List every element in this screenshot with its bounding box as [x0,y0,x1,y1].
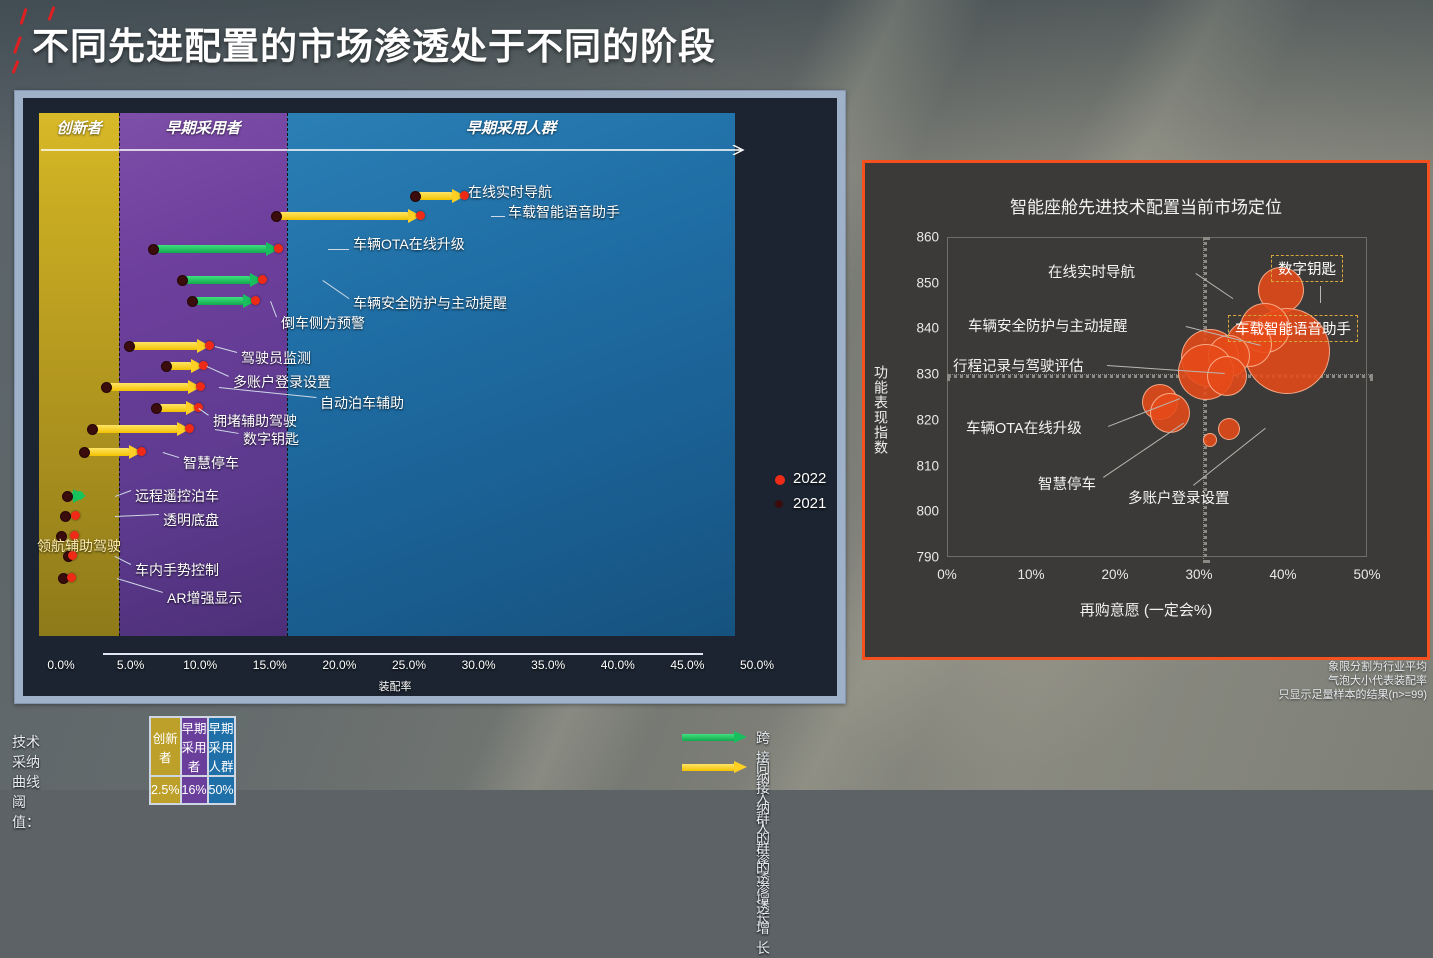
x-axis-ticks: 0.0%5.0%10.0%15.0%20.0%25.0%30.0%35.0%40… [39,658,751,680]
data-point-2022-3 [258,275,267,284]
growth-arrow-2 [157,243,278,255]
tech-label-3: 车辆安全防护与主动提醒 [353,293,507,313]
tech-label-2: 车辆OTA在线升级 [353,234,465,254]
footnote-line-3: 只显示足量样本的结果(n>=99) [1278,688,1427,702]
right-leader-1 [1320,286,1321,303]
bubble-label-5: 车辆OTA在线升级 [966,417,1082,438]
data-point-2021-8 [151,403,162,414]
table-row-values: 2.5% 16% 50% [150,776,235,804]
right-y-axis-label: 功能表现指数 [871,365,891,455]
x-tick-3: 15.0% [253,658,287,672]
data-point-2021-11 [62,491,73,502]
bubble-label-4: 行程记录与驾驶评估 [953,355,1084,376]
tech-label-0: 在线实时导航 [468,182,552,202]
right-x-tick-2: 20% [1101,567,1128,582]
tech-label-7: 自动泊车辅助 [320,393,404,413]
data-point-2021-0 [410,191,421,202]
bubble-label-2: 车辆安全防护与主动提醒 [968,315,1128,336]
green-arrow-icon [682,731,748,743]
right-y-tick-0: 790 [895,550,939,565]
bubble-11 [1203,433,1217,447]
band-innovators [39,113,119,636]
bubble-9 [1150,393,1190,433]
footnote-line-2: 气泡大小代表装配率 [1278,674,1427,688]
right-y-tick-2: 810 [895,458,939,473]
data-point-2021-9 [87,424,98,435]
right-x-tick-1: 10% [1017,567,1044,582]
growth-arrow-6 [170,360,204,372]
right-x-tick-4: 40% [1269,567,1296,582]
right-x-tick-3: 30% [1185,567,1212,582]
tech-label-9: 数字钥匙 [243,429,299,449]
bubble-label-1: 数字钥匙 [1271,255,1343,282]
bubble-label-7: 多账户登录设置 [1128,487,1230,508]
x-tick-5: 25.0% [392,658,426,672]
tech-label-4: 倒车侧方预警 [281,313,365,333]
tech-label-14: 车内手势控制 [135,560,219,580]
footnote-line-1: 象限分割为行业平均 [1278,660,1427,674]
decoration-tick-1 [19,8,27,25]
growth-arrow-1 [280,210,421,222]
data-point-2021-7 [101,382,112,393]
decoration-tick-3 [13,36,22,54]
threshold-value-0: 2.5% [150,776,181,804]
right-y-tick-1: 800 [895,504,939,519]
band-header-early-majority: 早期采用人群 [287,113,735,145]
title-bar: 不同先进配置的市场渗透处于不同的阶段 [0,0,1433,84]
x-tick-4: 20.0% [322,658,356,672]
band-header-early-adopters: 早期采用者 [119,113,287,145]
footnote: 象限分割为行业平均 气泡大小代表装配率 只显示足量样本的结果(n>=99) [1278,660,1427,702]
data-point-2021-10 [79,447,90,458]
growth-arrow-10 [88,446,141,458]
x-tick-7: 35.0% [531,658,565,672]
tech-label-10: 智慧停车 [183,453,239,473]
right-x-tick-5: 50% [1353,567,1380,582]
tech-label-11: 远程遥控泊车 [135,486,219,506]
threshold-header-0: 创新者 [150,717,181,776]
right-y-tick-4: 830 [895,367,939,382]
tech-label-8: 拥堵辅助驾驶 [213,411,297,431]
bubble-label-3: 车载智能语音助手 [1228,315,1358,342]
x-tick-8: 40.0% [601,658,635,672]
page-title: 不同先进配置的市场渗透处于不同的阶段 [32,16,716,70]
leader-line-2 [328,249,349,250]
growth-arrow-0 [419,190,464,202]
yellow-arrow-icon [682,761,748,773]
legend-label-2022: 2022 [793,470,826,487]
data-point-2022-4 [251,296,260,305]
adoption-axis-arrow [41,145,751,155]
table-row-headers: 创新者 早期采用者 早期采用人群 [150,717,235,776]
right-x-axis-label: 再购意愿 (一定会%) [865,599,1427,620]
tech-label-15: AR增强显示 [167,588,242,608]
threshold-table: 创新者 早期采用者 早期采用人群 2.5% 16% 50% [149,716,236,805]
leader-line-1 [491,216,505,217]
right-y-tick-3: 820 [895,412,939,427]
threshold-header-1: 早期采用者 [181,717,208,776]
bubble-label-6: 智慧停车 [1038,473,1096,494]
right-y-tick-6: 850 [895,275,939,290]
left-chart-panel: 创新者 早期采用者 早期采用人群 在线实时导航车载智能语音助手车辆OTA在线升级… [14,90,846,704]
right-chart-title: 智能座舱先进技术配置当前市场定位 [865,193,1427,218]
bubble-label-0: 在线实时导航 [1048,261,1135,282]
adoption-curve-plot: 创新者 早期采用者 早期采用人群 在线实时导航车载智能语音助手车辆OTA在线升级… [23,98,837,696]
growth-arrow-4 [196,295,255,307]
data-point-2022-5 [205,341,214,350]
legend-dot-2021 [775,500,783,508]
threshold-value-2: 50% [208,776,235,804]
x-tick-10: 50.0% [740,658,774,672]
data-point-2022-15 [67,573,76,582]
bubble-10 [1218,418,1240,440]
band-header-innovators: 创新者 [39,113,119,145]
tech-label-13: 领航辅助驾驶 [37,536,121,556]
growth-arrow-9 [96,423,189,435]
growth-arrow-7 [110,381,201,393]
legend-dot-2022 [775,475,785,485]
tech-label-1: 车载智能语音助手 [508,202,620,222]
x-tick-6: 30.0% [462,658,496,672]
x-tick-9: 45.0% [670,658,704,672]
threshold-value-1: 16% [181,776,208,804]
data-point-2022-10 [137,447,146,456]
threshold-header-2: 早期采用人群 [208,717,235,776]
right-chart-panel: 智能座舱先进技术配置当前市场定位 功能表现指数 再购意愿 (一定会%) 7908… [862,160,1430,660]
x-axis-line [103,653,703,655]
x-tick-2: 10.0% [183,658,217,672]
data-point-2021-1 [271,211,282,222]
threshold-label: 技术采纳曲线阈值： [12,732,40,832]
legend-label-2021: 2021 [793,495,826,512]
right-y-tick-7: 860 [895,230,939,245]
x-tick-1: 5.0% [117,658,144,672]
tech-label-5: 驾驶员监测 [241,348,311,368]
growth-arrow-5 [133,340,208,352]
growth-arrow-8 [160,402,198,414]
x-tick-0: 0.0% [47,658,74,672]
right-y-tick-5: 840 [895,321,939,336]
decoration-tick-4 [11,60,19,74]
data-point-2021-6 [161,361,172,372]
x-axis-title: 装配率 [39,678,751,694]
legend-same-group-label: 同接纳人群的渗透增长 [756,758,770,958]
growth-arrow-3 [186,274,261,286]
quadrant-line-vertical [1203,237,1207,563]
bubble-7 [1207,356,1247,396]
right-x-tick-0: 0% [937,567,957,582]
tech-label-12: 透明底盘 [163,510,219,530]
